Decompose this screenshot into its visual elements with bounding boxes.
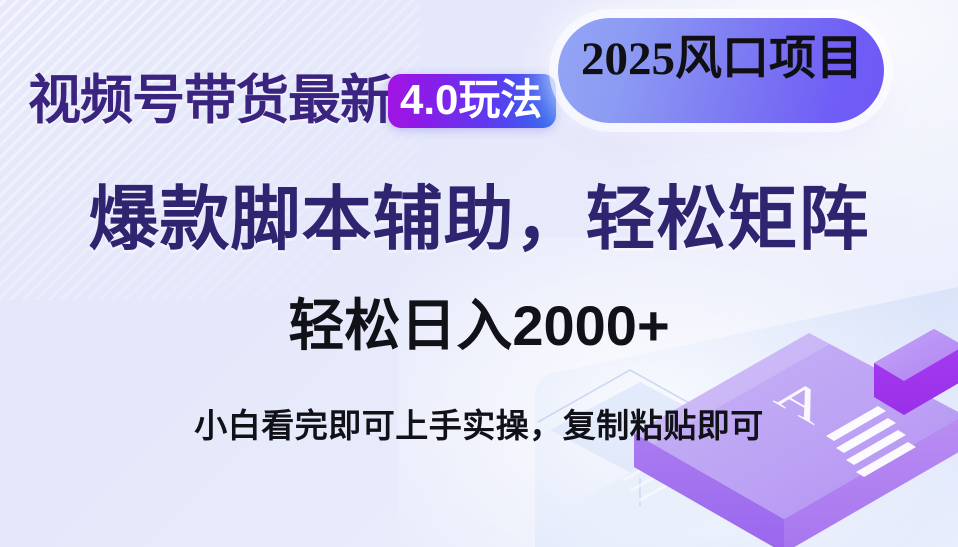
subline-text: 小白看完即可上手实操，复制粘贴即可 <box>0 409 958 442</box>
background-glow-bottom-right <box>398 237 958 547</box>
headline-line-1: 视频号带货最新 <box>28 74 392 127</box>
headline-line-2: 爆款脚本辅助，轻松矩阵 <box>0 186 958 256</box>
year-pill-label: 2025风口项目 <box>566 36 878 83</box>
promo-banner: A 视频号带货最新 4.0玩法 2025风口项目 爆款脚本辅助，轻松矩阵 轻松日… <box>0 0 958 547</box>
headline-line-1-row: 视频号带货最新 4.0玩法 <box>28 74 556 128</box>
version-badge: 4.0玩法 <box>388 74 556 128</box>
headline-line-3: 轻松日入2000+ <box>0 298 958 354</box>
